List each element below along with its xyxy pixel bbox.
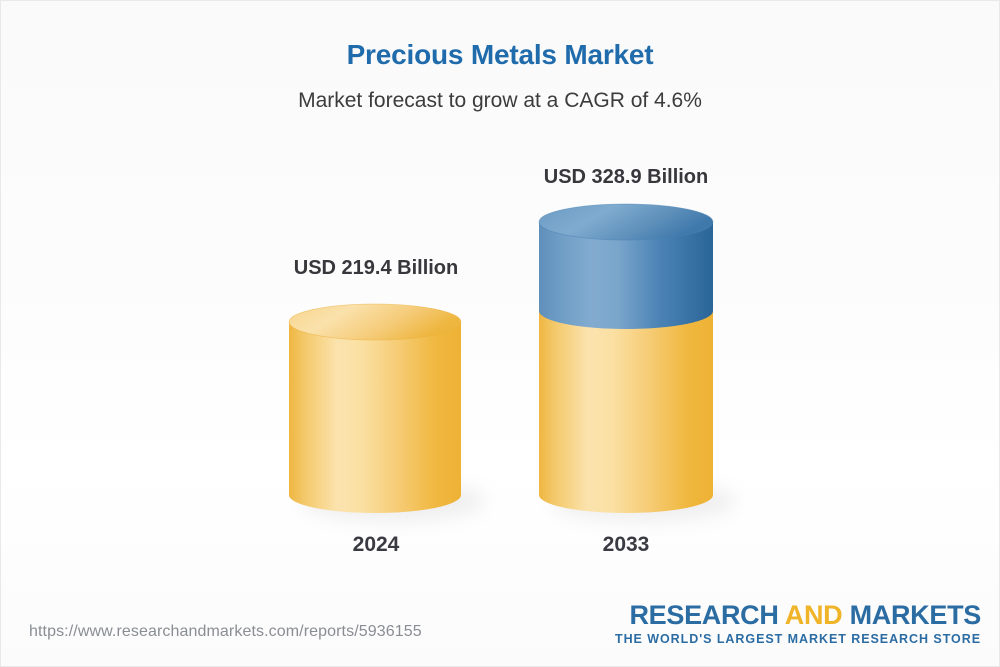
research-and-markets-logo: RESEARCH AND MARKETS THE WORLD'S LARGEST… [615,601,981,646]
value-label-2033: USD 328.9 Billion [539,166,713,189]
category-label-2024: 2024 [289,533,463,557]
source-url[interactable]: https://www.researchandmarkets.com/repor… [29,623,422,641]
bar-2024 [289,304,485,521]
chart-canvas: Precious Metals Market Market forecast t… [0,0,1000,667]
value-label-2024: USD 219.4 Billion [289,257,463,280]
bar-2033 [539,204,736,521]
chart-plot-area: USD 219.4 Billion USD 328.9 Billion 2024… [1,1,1000,667]
logo-word-markets: MARKETS [850,600,981,630]
category-label-2033: 2033 [539,533,713,557]
cylinder-bars-graphic [1,1,1000,667]
logo-tagline: THE WORLD'S LARGEST MARKET RESEARCH STOR… [615,632,981,646]
logo-word-and: AND [785,600,850,630]
logo-word-research: RESEARCH [629,600,784,630]
logo-wordmark: RESEARCH AND MARKETS [615,601,981,629]
